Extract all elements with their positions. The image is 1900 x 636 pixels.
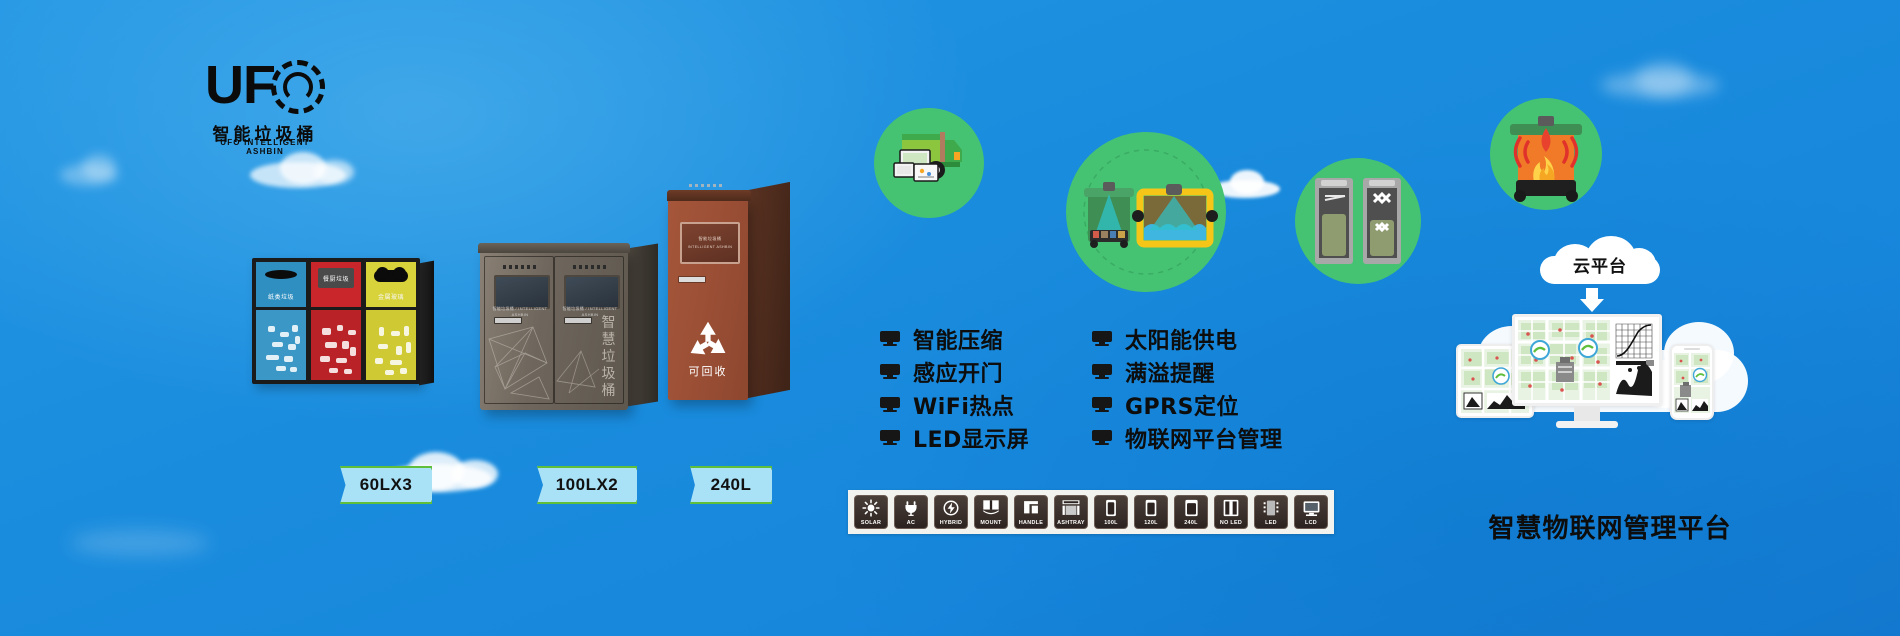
monitor-bullet-icon [1092,397,1112,412]
ashtray-icon [1055,499,1087,517]
bin-100lx2-door-right: 智能垃圾桶 / INTELLIGENT ASHBIN 智慧垃圾桶 [554,256,624,404]
compartment-kitchen-upper: 餐厨垃圾 [311,262,361,307]
spec-icon-lcd: LCD [1294,495,1328,529]
lcd-screen-right [564,275,620,309]
feature-circle-fire-alarm-detection [1490,98,1602,210]
logo-wordmark: UF [205,58,275,112]
feature-item: 满溢提醒 [1092,355,1283,388]
monitor-chart-view [1612,320,1656,400]
cloud-platform-badge: 云平台 [1540,236,1660,288]
spec-icon-led: LED [1254,495,1288,529]
bin-240l-top-cap [667,190,751,201]
spec-label: 120L [1136,520,1166,526]
compartment-paper-lower [256,310,306,380]
recycle-symbol-icon [687,320,729,360]
compartment-metal-label: 金属玻璃 [366,292,416,301]
bin-60lx3-compartment-paper: 纸类垃圾 [256,262,306,380]
spec-icon-hybrid: HYBRID [934,495,968,529]
feature-item: WiFi热点 [880,388,1029,421]
waste-slot-right [564,317,592,324]
bin-60lx3-side-panel [419,261,434,386]
feature-label: 太阳能供电 [1125,323,1238,355]
monitor-map-view [1518,320,1610,400]
feature-circle-collection-truck-dispatch [874,108,984,218]
monitor-foot [1556,421,1618,428]
monitor-bullet-icon [880,397,900,412]
truck-and-devices-icon [874,108,984,218]
spec-label: 240L [1176,520,1206,526]
compartment-metal-upper: 金属玻璃 [366,262,416,307]
spec-icon-240l: 240L [1174,495,1208,529]
bin-240l-front: 智能垃圾桶 INTELLIGENT ASHBIN 可回收 [668,200,748,400]
feature-label: 满溢提醒 [1125,356,1215,388]
spec-icon-solar: SOLAR [854,495,888,529]
feature-column-1: 智能压缩 感应开门 WiFi热点 LED显示屏 [880,322,1029,454]
spec-icon-ashtray: ASHTRAY [1054,495,1088,529]
bin-100l-icon [1095,499,1127,517]
bin-ultrasonic-sensor-icon [1066,132,1226,292]
spec-icon-100l: 100L [1094,495,1128,529]
compartment-paper-upper: 纸类垃圾 [256,262,306,307]
feature-item: GPRS定位 [1092,388,1283,421]
paper-waste-graphic [262,322,300,372]
bin-240l-led-strip-icon [689,184,723,187]
monitor-neck [1574,406,1600,422]
bin-240l-display: 智能垃圾桶 INTELLIGENT ASHBIN [680,222,740,264]
product-label-60lx3: 60LX3 [340,466,432,504]
spec-label: HANDLE [1016,520,1046,526]
lightning-icon [935,499,967,517]
bin-240l-icon [1175,499,1207,517]
paper-opening-icon [265,270,297,279]
feature-circle-fill-level-sensing [1066,132,1226,292]
spec-label: AC [896,520,926,526]
bin-240l-display-caption-cn: 智能垃圾桶 [682,235,738,242]
spec-label: MOUNT [976,520,1006,526]
phone-speaker-icon [1684,348,1700,350]
banner-canvas: UF 智能垃圾桶 UFO INTELLIGENT ASHBIN 纸类垃圾 [0,0,1900,636]
kitchen-waste-graphic [317,322,355,372]
spec-icon-no-led: NO LED [1214,495,1248,529]
feature-item: LED显示屏 [880,421,1029,454]
logo-ring-icon [271,60,325,114]
monitor-bullet-icon [880,364,900,379]
plug-icon [895,499,927,517]
monitor-bullet-icon [880,430,900,445]
product-label-240l: 240L [690,466,772,504]
metal-glass-opening-icon [374,270,408,282]
handle-icon [1015,499,1047,517]
feature-label: 智能压缩 [913,323,1003,355]
spec-label: 100L [1096,520,1126,526]
spec-label: SOLAR [856,520,886,526]
compartment-kitchen-label: 餐厨垃圾 [311,274,361,283]
spec-icon-mount: MOUNT [974,495,1008,529]
desktop-monitor-device [1512,314,1662,432]
feature-item: 智能压缩 [880,322,1029,355]
waste-slot-left [494,317,522,324]
feature-label: WiFi热点 [913,389,1014,421]
cloud-platform-label: 云平台 [1540,252,1660,277]
monitor-bullet-icon [1092,331,1112,346]
led-strip-icon [573,265,607,269]
feature-label: 感应开门 [913,356,1003,388]
monitor-bullet-icon [1092,430,1112,445]
lcd-screen-left [494,275,550,309]
feature-label: 物联网平台管理 [1125,422,1283,454]
bin-240l-display-caption-en: INTELLIGENT ASHBIN [682,244,738,251]
metal-waste-graphic [372,322,410,372]
monitor-bullet-icon [880,331,900,346]
panel-led-icon [1255,499,1287,517]
twin-compactor-bins-icon [1295,158,1421,284]
wall-mount-icon [975,499,1007,517]
smartphone-device [1670,344,1714,420]
product-bin-240l: 智能垃圾桶 INTELLIGENT ASHBIN 可回收 [668,200,748,400]
feature-column-2: 太阳能供电 满溢提醒 GPRS定位 物联网平台管理 [1092,322,1283,454]
brand-logo: UF 智能垃圾桶 UFO INTELLIGENT ASHBIN [205,58,325,150]
spec-label: NO LED [1216,520,1246,526]
bin-240l-side-panel [748,182,790,398]
panel-blank-icon [1215,499,1247,517]
panel-lcd-icon [1295,499,1327,517]
bin-100lx2-vertical-text: 智慧垃圾桶 [601,315,617,400]
logo-english-name: UFO INTELLIGENT ASHBIN [202,138,328,156]
bin-60lx3-compartment-metal-glass: 金属玻璃 [366,262,416,380]
feature-circle-waste-compaction [1295,158,1421,284]
monitor-bullet-icon [1092,364,1112,379]
bin-240l-recycle-label: 可回收 [668,363,748,379]
feature-item: 太阳能供电 [1092,322,1283,355]
feature-label: LED显示屏 [913,422,1029,454]
feature-item: 物联网平台管理 [1092,421,1283,454]
geometric-decal-left [485,323,555,403]
screen-caption-left: 智能垃圾桶 / INTELLIGENT ASHBIN [489,306,551,317]
bin-100lx2-door-left: 智能垃圾桶 / INTELLIGENT ASHBIN [484,256,554,404]
compartment-kitchen-lower [311,310,361,380]
spec-icon-handle: HANDLE [1014,495,1048,529]
bin-100lx2-top-cap [478,243,630,253]
compartment-metal-lower [366,310,416,380]
spec-label: HYBRID [936,520,966,526]
feature-label: GPRS定位 [1125,389,1239,421]
bin-120l-icon [1135,499,1167,517]
spec-icon-ac: AC [894,495,928,529]
spec-icon-120l: 120L [1134,495,1168,529]
product-bin-100lx2: 智能垃圾桶 / INTELLIGENT ASHBIN 智能垃圾桶 / INTEL… [480,250,628,410]
product-bin-60lx3: 纸类垃圾 餐厨垃圾 [252,258,420,384]
led-strip-icon [503,265,537,269]
spec-label: LED [1256,520,1286,526]
phone-map-view [1674,353,1710,413]
compartment-paper-label: 纸类垃圾 [256,292,306,301]
bin-240l-waste-slot [678,276,706,283]
iot-platform-illustration: 云平台 [1456,236,1756,486]
feature-item: 感应开门 [880,355,1029,388]
sun-icon [855,499,887,517]
product-label-100lx2: 100LX2 [537,466,637,504]
spec-label: ASHTRAY [1056,520,1086,526]
bin-100lx2-side-panel [627,244,658,407]
platform-caption: 智慧物联网管理平台 [1440,508,1780,545]
bin-60lx3-compartment-kitchen: 餐厨垃圾 [311,262,361,380]
bin-fire-alarm-icon [1490,98,1602,210]
spec-label: LCD [1296,520,1326,526]
spec-icon-strip: SOLAR AC HYBRID M [848,490,1334,534]
